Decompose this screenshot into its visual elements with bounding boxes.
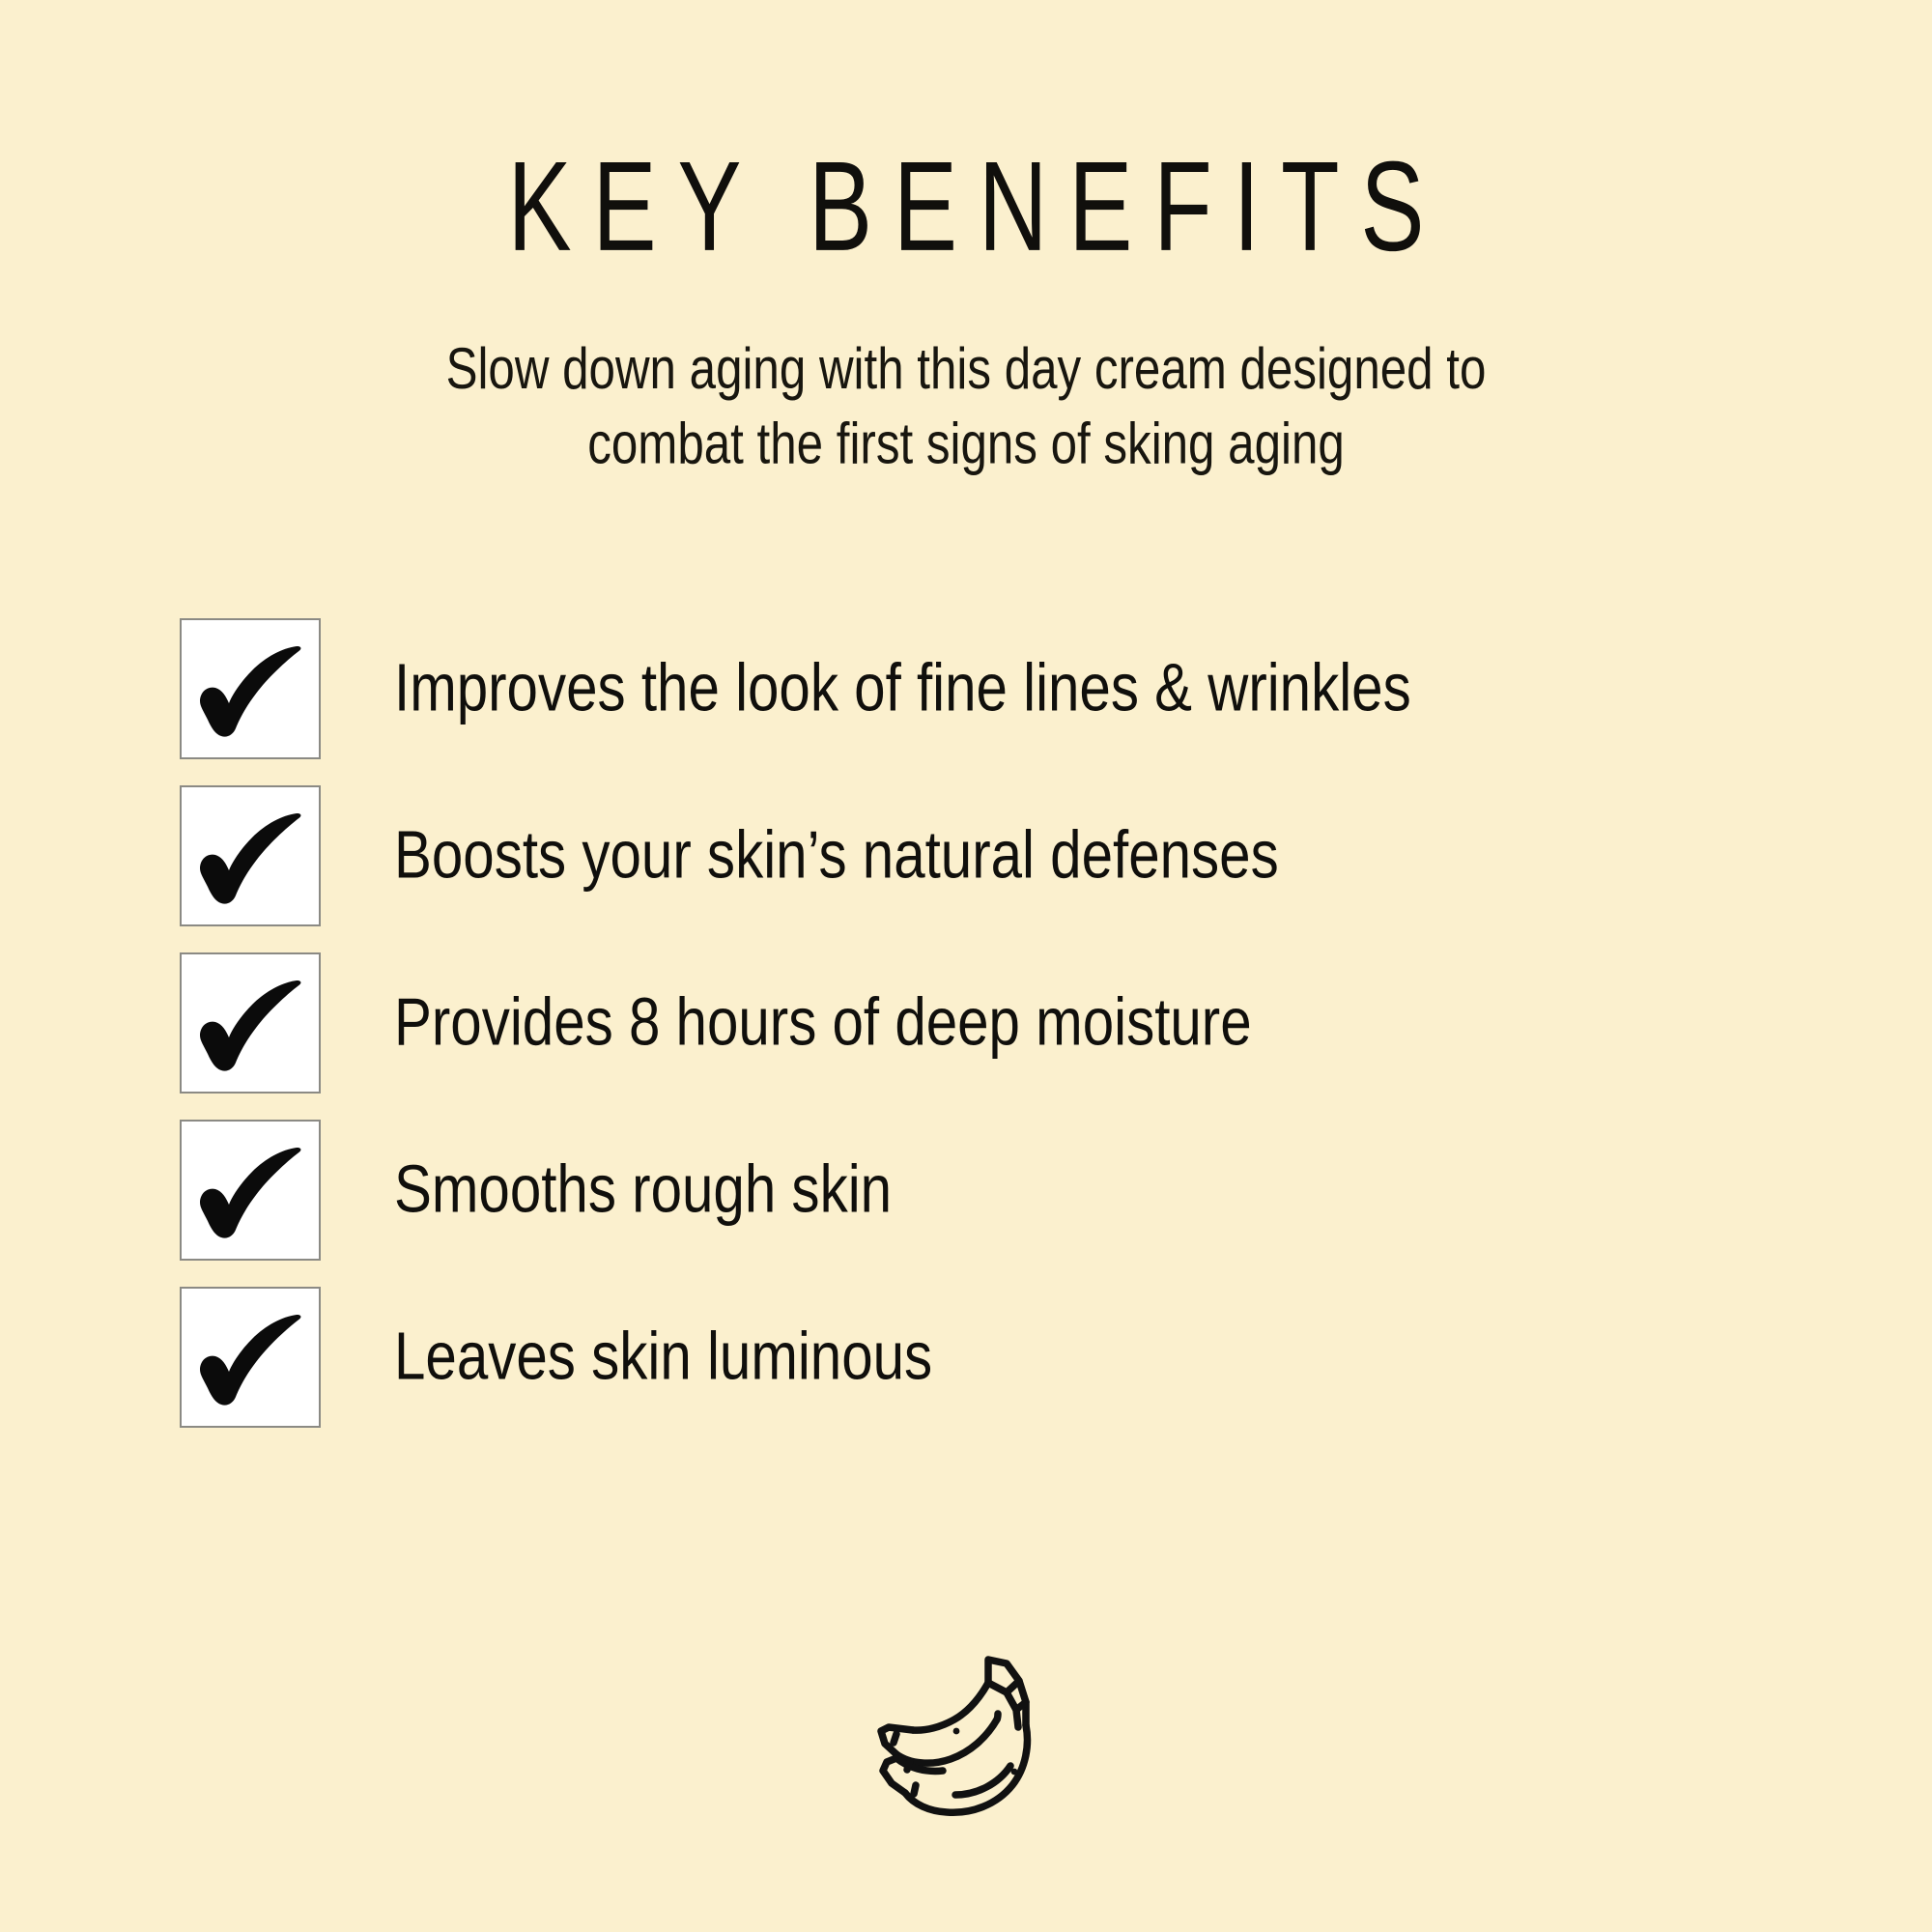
check-icon xyxy=(192,970,308,1078)
banana-bunch-icon xyxy=(862,1642,1070,1835)
page-title: KEY BENEFITS xyxy=(155,143,1777,270)
list-item: Provides 8 hours of deep moisture xyxy=(180,952,1880,1094)
subtitle-line-1: Slow down aging with this day cream desi… xyxy=(283,332,1649,407)
footer-decoration xyxy=(0,1642,1932,1835)
benefit-checkbox-3[interactable] xyxy=(180,952,321,1094)
benefit-label: Smooths rough skin xyxy=(394,1156,892,1223)
benefit-label: Improves the look of fine lines & wrinkl… xyxy=(394,655,1411,722)
benefit-label: Boosts your skin’s natural defenses xyxy=(394,822,1279,889)
benefits-list: Improves the look of fine lines & wrinkl… xyxy=(180,618,1880,1454)
list-item: Leaves skin luminous xyxy=(180,1287,1880,1428)
benefit-checkbox-4[interactable] xyxy=(180,1120,321,1261)
key-benefits-card: KEY BENEFITS Slow down aging with this d… xyxy=(0,0,1932,1932)
benefit-checkbox-5[interactable] xyxy=(180,1287,321,1428)
benefit-label: Provides 8 hours of deep moisture xyxy=(394,989,1252,1056)
check-icon xyxy=(192,1304,308,1412)
benefit-checkbox-1[interactable] xyxy=(180,618,321,759)
benefit-checkbox-2[interactable] xyxy=(180,785,321,926)
benefit-label: Leaves skin luminous xyxy=(394,1323,932,1390)
list-item: Smooths rough skin xyxy=(180,1120,1880,1261)
page-subtitle: Slow down aging with this day cream desi… xyxy=(283,332,1649,482)
list-item: Improves the look of fine lines & wrinkl… xyxy=(180,618,1880,759)
check-icon xyxy=(192,1137,308,1245)
check-icon xyxy=(192,803,308,911)
subtitle-line-2: combat the first signs of sking aging xyxy=(283,407,1649,481)
check-icon xyxy=(192,636,308,744)
list-item: Boosts your skin’s natural defenses xyxy=(180,785,1880,926)
